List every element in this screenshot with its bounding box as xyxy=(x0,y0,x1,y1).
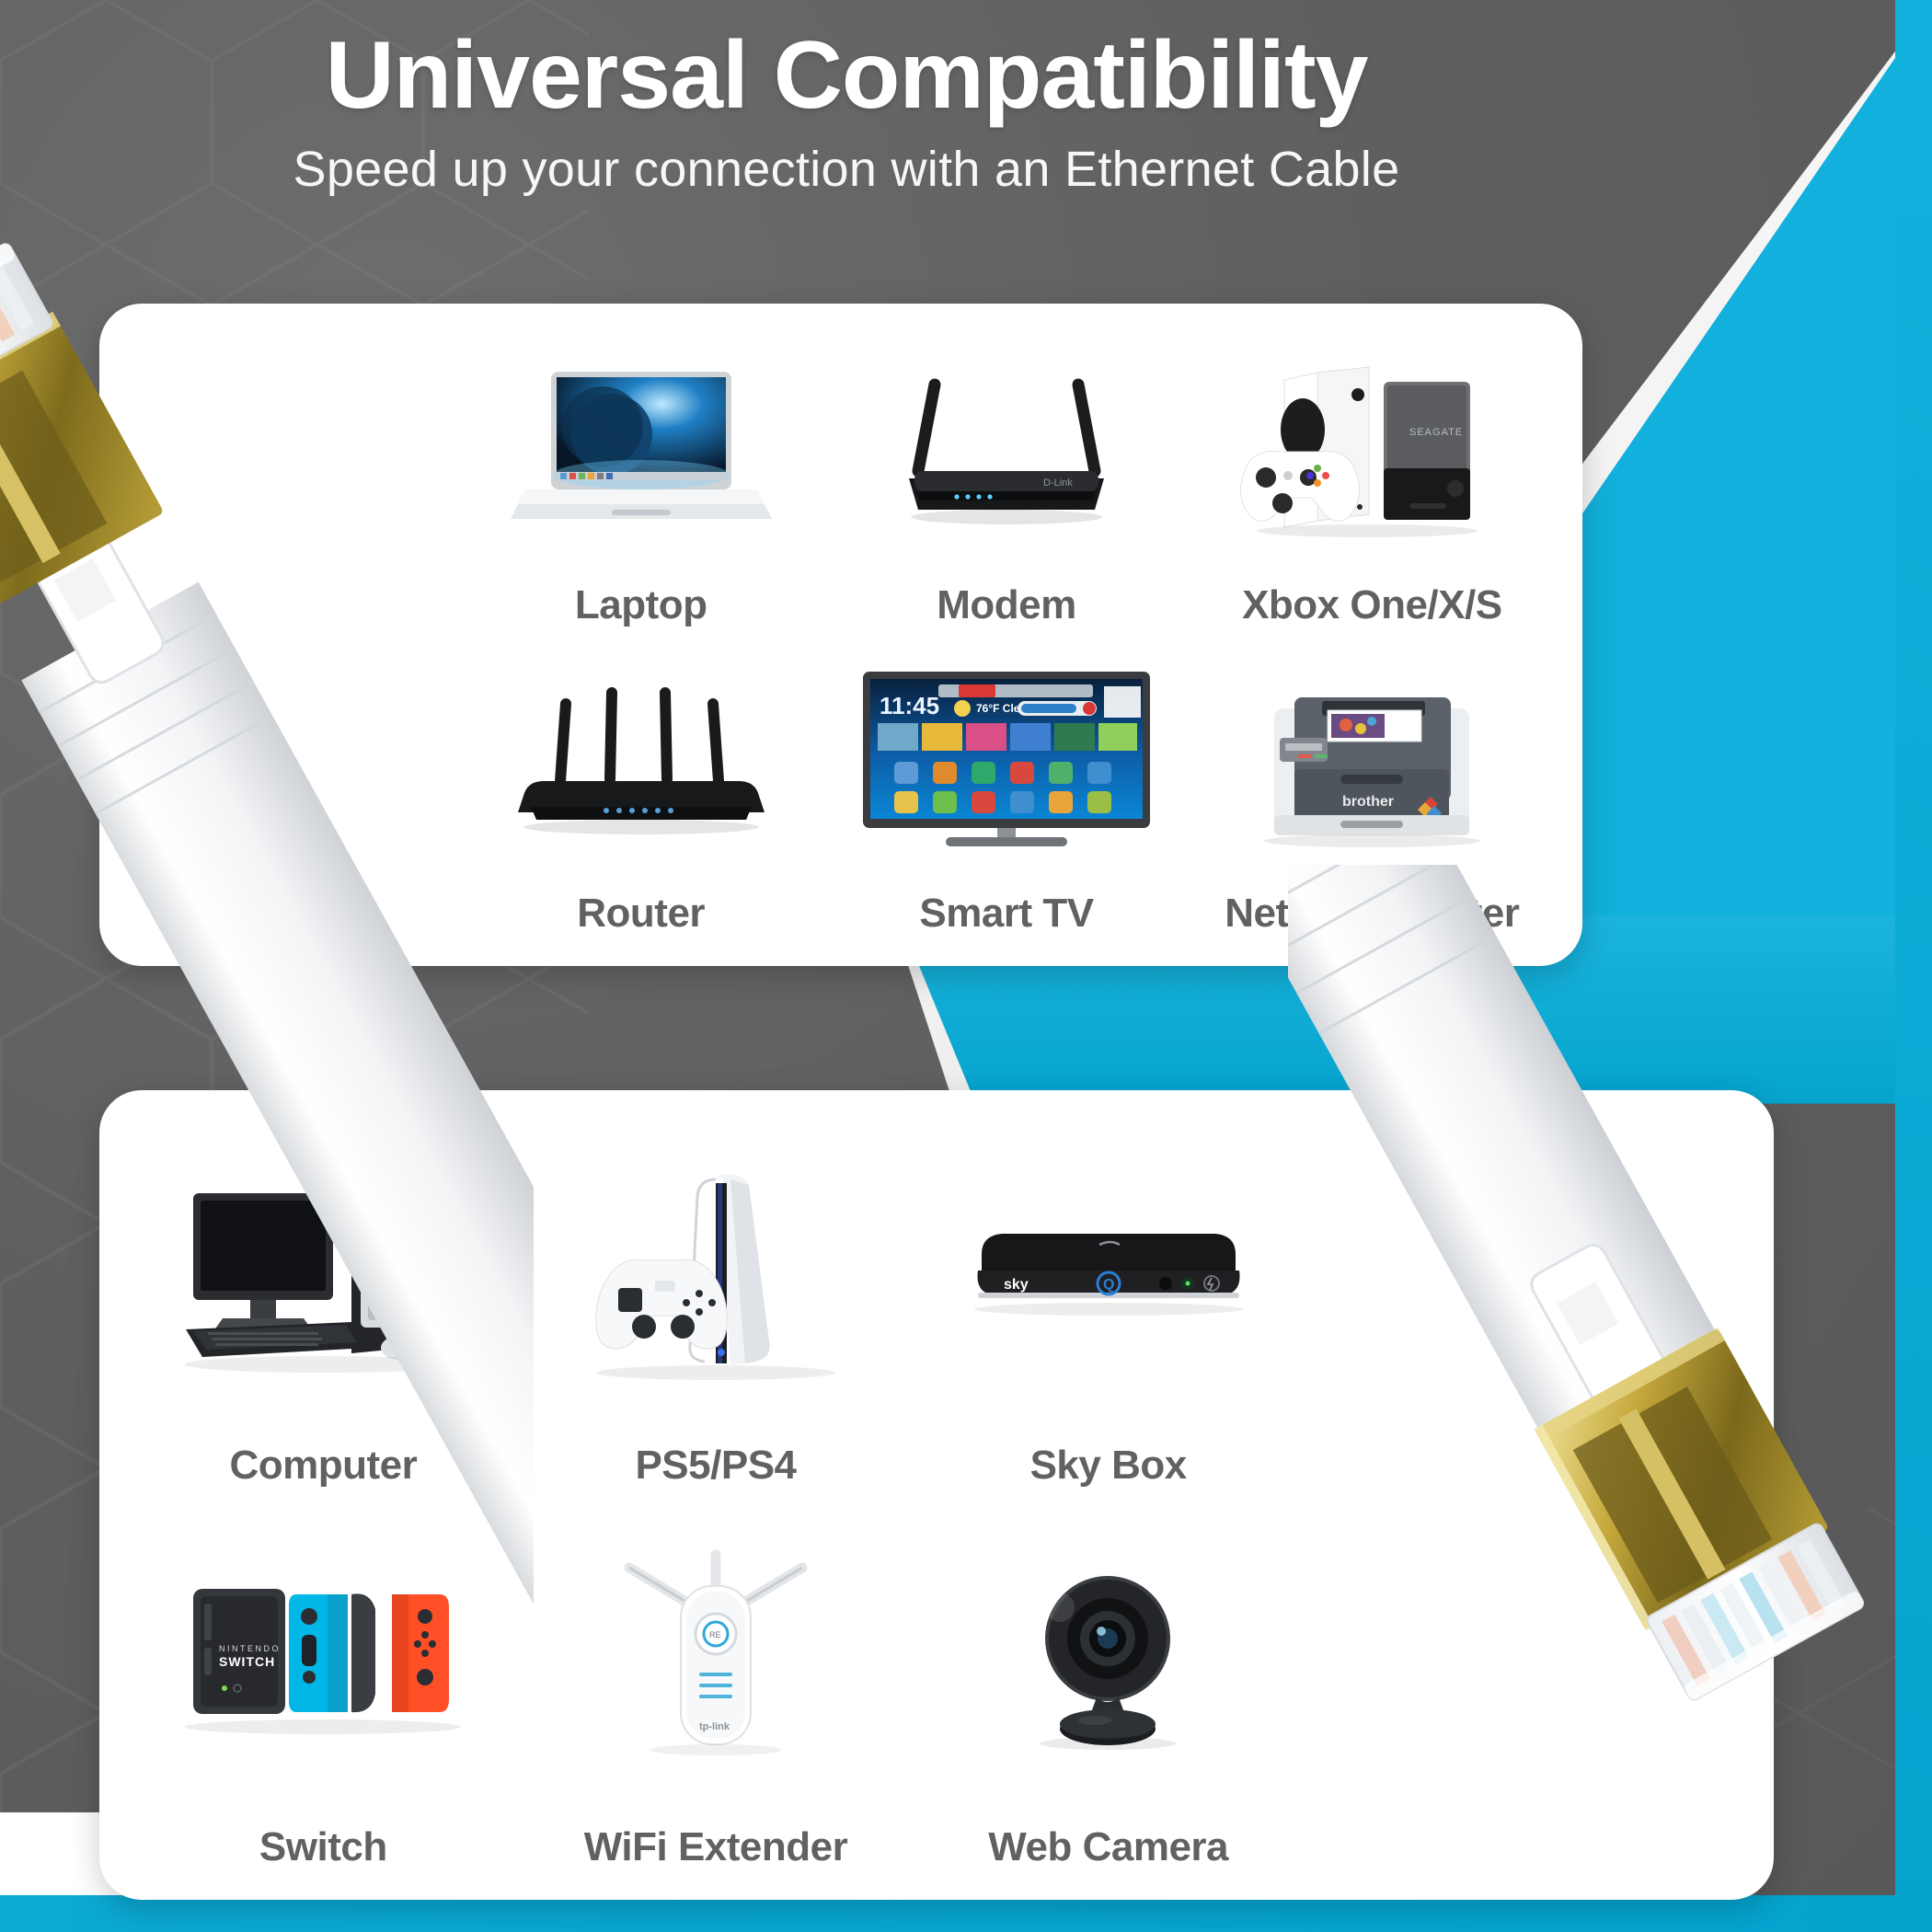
header: Universal Compatibility Speed up your co… xyxy=(0,26,1693,198)
device-label: Router xyxy=(577,891,705,937)
bottom-device-panel: Computer xyxy=(99,1090,1774,1900)
device-cell-computer: Computer xyxy=(127,1112,520,1494)
bottom-cyan-border xyxy=(0,1895,1932,1932)
page-subtitle: Speed up your connection with an Etherne… xyxy=(0,141,1693,198)
top-device-panel: Laptop D-Link xyxy=(99,304,1582,966)
device-cell-sky-box: sky Q Sky Box xyxy=(912,1112,1305,1494)
device-label: Sky Box xyxy=(1030,1443,1187,1489)
device-label: Web Camera xyxy=(988,1824,1228,1870)
right-cyan-border xyxy=(1895,0,1932,1932)
device-label: Xbox One/X/S xyxy=(1242,582,1502,628)
desktop-computer-icon xyxy=(127,1112,520,1433)
svg-text:D-Link: D-Link xyxy=(1043,477,1073,489)
device-label: Modem xyxy=(937,582,1076,628)
router-icon xyxy=(458,634,823,881)
device-label: Smart TV xyxy=(919,891,1093,937)
printer-brand: brother xyxy=(1342,794,1394,810)
tv-clock: 11:45 xyxy=(880,692,939,719)
infographic-canvas: Universal Compatibility Speed up your co… xyxy=(0,0,1932,1932)
device-cell-modem: D-Link Modem xyxy=(823,326,1189,634)
page-title: Universal Compatibility xyxy=(0,26,1693,126)
device-label: Laptop xyxy=(575,582,707,628)
svg-text:SEAGATE: SEAGATE xyxy=(1409,427,1463,438)
nintendo-switch-icon: NINTENDO SWITCH xyxy=(127,1494,520,1815)
playstation-icon xyxy=(520,1112,913,1433)
sky-box-icon: sky Q xyxy=(912,1112,1305,1433)
extender-brand: tp-link xyxy=(699,1721,730,1732)
device-label: PS5/PS4 xyxy=(635,1443,796,1489)
modem-icon: D-Link xyxy=(823,326,1189,573)
device-cell-router: Router xyxy=(458,634,823,942)
smart-tv-icon: 11:45 76°F Clear xyxy=(823,634,1189,881)
device-cell-web-camera: Web Camera xyxy=(912,1494,1305,1876)
xbox-console-icon: SEAGATE xyxy=(1190,326,1555,573)
web-camera-icon xyxy=(912,1494,1305,1815)
device-cell-smart-tv: 11:45 76°F Clear xyxy=(823,634,1189,942)
device-cell-switch: NINTENDO SWITCH xyxy=(127,1494,520,1876)
device-cell-wifi-extender: RE tp-link WiFi Extender xyxy=(520,1494,913,1876)
device-cell-printer: brother Network Printer xyxy=(1190,634,1555,942)
switch-brand-nintendo: NINTENDO xyxy=(219,1644,281,1653)
wifi-extender-icon: RE tp-link xyxy=(520,1494,913,1815)
device-label: WiFi Extender xyxy=(584,1824,847,1870)
device-label: Switch xyxy=(259,1824,387,1870)
switch-brand-switch: SWITCH xyxy=(219,1654,275,1669)
device-cell-xbox: SEAGATE xyxy=(1190,326,1555,634)
sky-brand: sky xyxy=(1004,1277,1029,1293)
svg-text:Q: Q xyxy=(1103,1277,1114,1293)
device-cell-playstation: PS5/PS4 xyxy=(520,1112,913,1494)
svg-text:RE: RE xyxy=(709,1630,721,1639)
device-label: Network Printer xyxy=(1225,891,1519,937)
device-label: Computer xyxy=(229,1443,417,1489)
laptop-icon xyxy=(458,326,823,573)
printer-icon: brother xyxy=(1190,634,1555,881)
device-cell-laptop: Laptop xyxy=(458,326,823,634)
